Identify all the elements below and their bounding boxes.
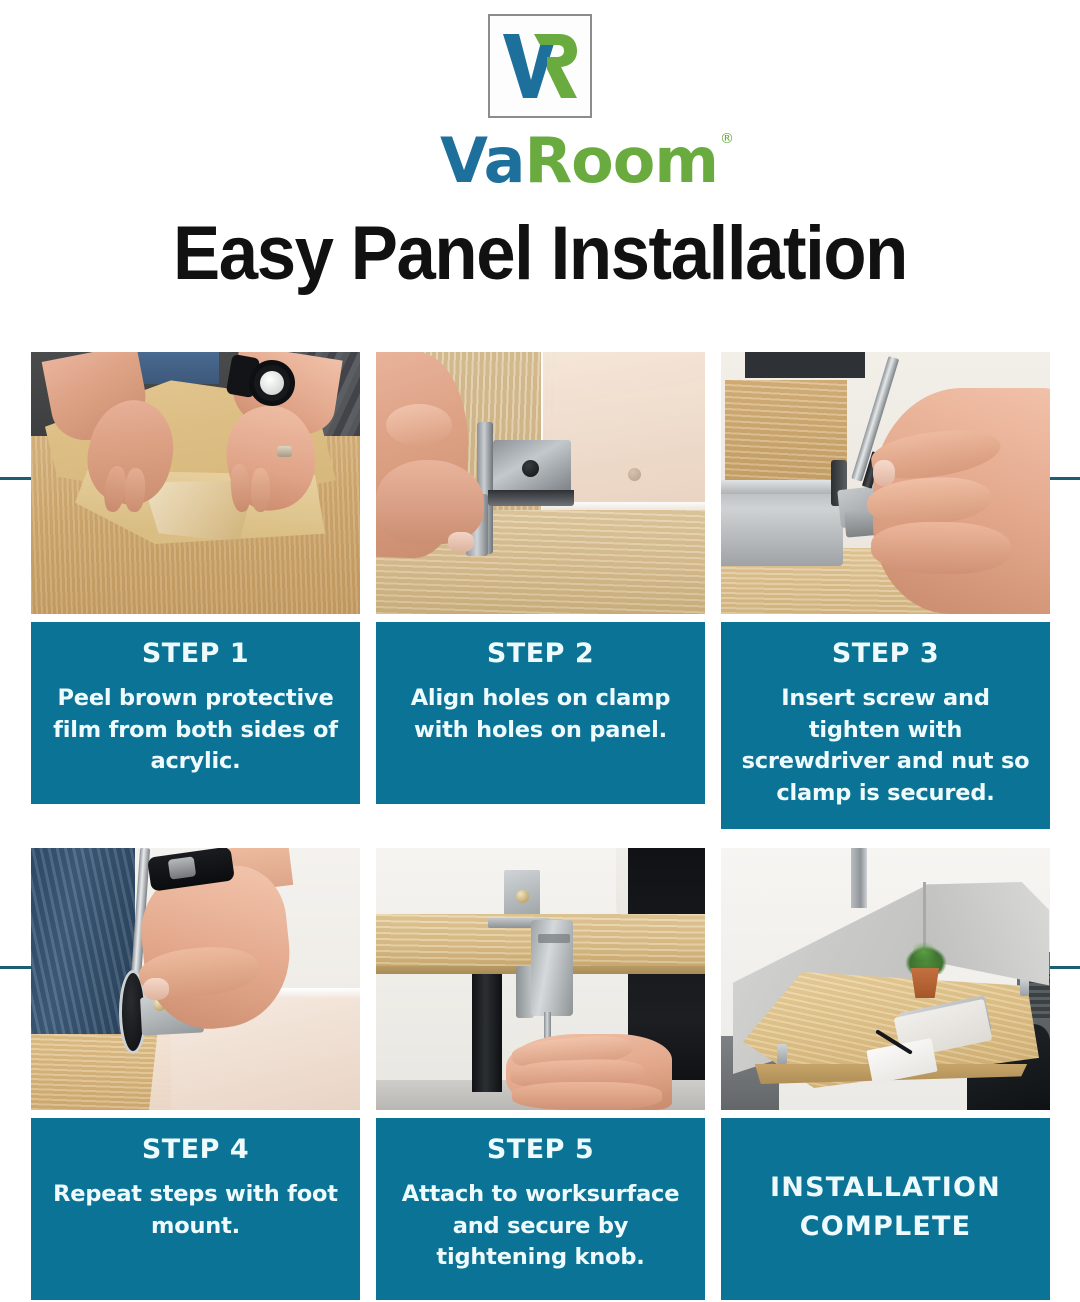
step-text: Peel brown protective film from both sid… [45,683,346,778]
brand-wordmark: VaRoom ® [440,130,718,192]
rule-left-row1 [0,477,34,480]
step-caption: STEP 1 Peel brown protective film from b… [31,622,360,804]
photo-insert-screw-tighten [721,352,1050,614]
step-caption: STEP 3 Insert screw and tighten with scr… [721,622,1050,829]
brand-logo: VaRoom ® [440,14,640,192]
step-label: STEP 4 [45,1134,346,1165]
step-card: STEP 1 Peel brown protective film from b… [31,352,360,829]
completion-text: INSTALLATION COMPLETE [735,1168,1036,1246]
header: VaRoom ® Easy Panel Installation [0,0,1080,297]
step-caption: STEP 2 Align holes on clamp with holes o… [376,622,705,804]
step-label: STEP 3 [735,638,1036,669]
photo-repeat-with-foot-mount [31,848,360,1110]
page-title: Easy Panel Installation [38,210,1042,297]
step-caption: STEP 5 Attach to worksurface and secure … [376,1118,705,1300]
photo-attach-to-worksurface [376,848,705,1110]
photo-peel-protective-film [31,352,360,614]
step-card: STEP 4 Repeat steps with foot mount. [31,848,360,1300]
rule-left-row2 [0,966,34,969]
photo-installation-complete [721,848,1050,1110]
rule-right-row1 [1046,477,1080,480]
registered-trademark-icon: ® [720,132,734,146]
varoom-vr-monogram-icon [488,14,592,118]
step-caption: STEP 4 Repeat steps with foot mount. [31,1118,360,1300]
step-card: INSTALLATION COMPLETE [721,848,1050,1300]
step-text: Align holes on clamp with holes on panel… [390,683,691,746]
brand-wordmark-va: Va [440,124,524,197]
step-label: STEP 1 [45,638,346,669]
brand-wordmark-room: Room [524,124,718,197]
completion-caption: INSTALLATION COMPLETE [721,1118,1050,1300]
step-card: STEP 5 Attach to worksurface and secure … [376,848,705,1300]
step-card: STEP 2 Align holes on clamp with holes o… [376,352,705,829]
rule-right-row2 [1046,966,1080,969]
step-label: STEP 2 [390,638,691,669]
infographic-page: VaRoom ® Easy Panel Installation [0,0,1080,1302]
step-text: Repeat steps with foot mount. [45,1179,346,1242]
step-text: Insert screw and tighten with screwdrive… [735,683,1036,809]
step-card: STEP 3 Insert screw and tighten with scr… [721,352,1050,829]
step-text: Attach to worksurface and secure by tigh… [390,1179,691,1274]
steps-grid: STEP 1 Peel brown protective film from b… [31,352,1049,1300]
photo-align-clamp-holes [376,352,705,614]
step-label: STEP 5 [390,1134,691,1165]
